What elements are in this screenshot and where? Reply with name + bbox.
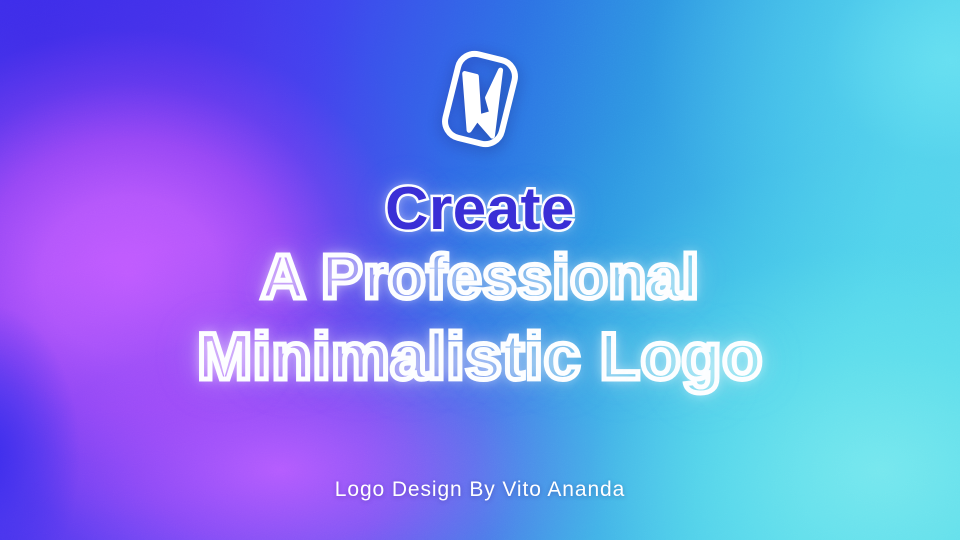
headline-line-3: Minimalistic Logo [0,316,960,396]
headline-line-1: Create [0,178,960,240]
content-layer: Create A Professional Minimalistic Logo … [0,0,960,540]
brand-logo [0,44,960,154]
subtitle-credit: Logo Design By Vito Ananda [0,478,960,502]
title-card-canvas: Create A Professional Minimalistic Logo … [0,0,960,540]
headline-line-2: A Professional [0,240,960,316]
headline-block: Create A Professional Minimalistic Logo [0,178,960,396]
va-monogram-icon [425,44,535,154]
